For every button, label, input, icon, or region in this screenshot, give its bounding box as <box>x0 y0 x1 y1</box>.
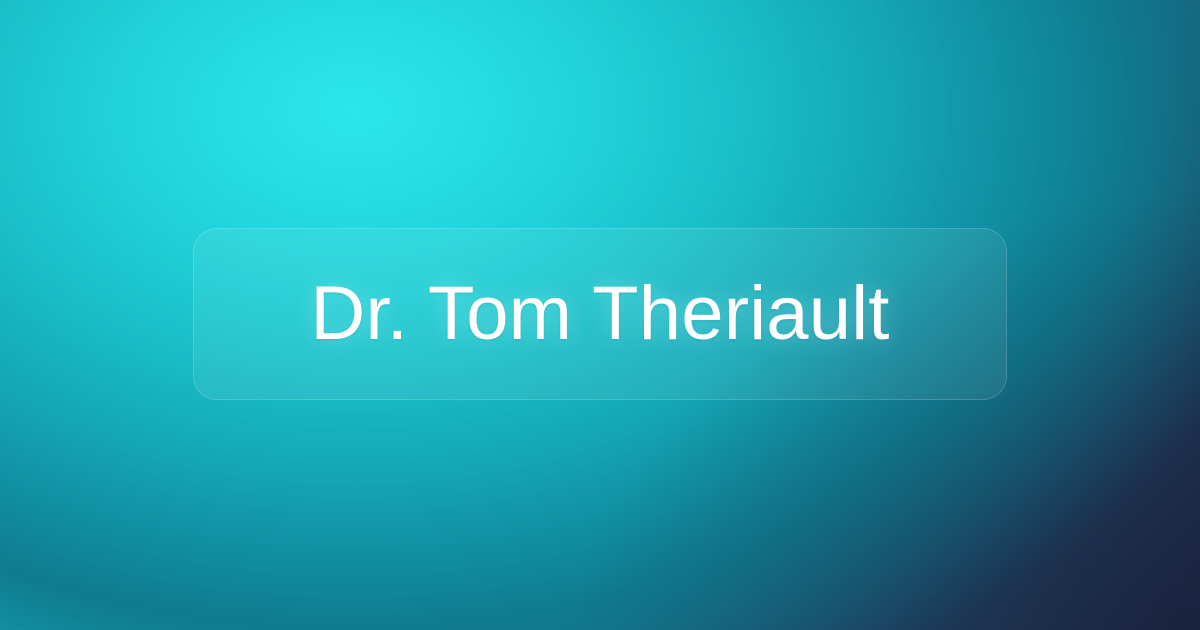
share-banner: Dr. Tom Theriault <box>0 0 1200 630</box>
page-title: Dr. Tom Theriault <box>310 274 889 355</box>
name-plate-card: Dr. Tom Theriault <box>193 228 1007 400</box>
